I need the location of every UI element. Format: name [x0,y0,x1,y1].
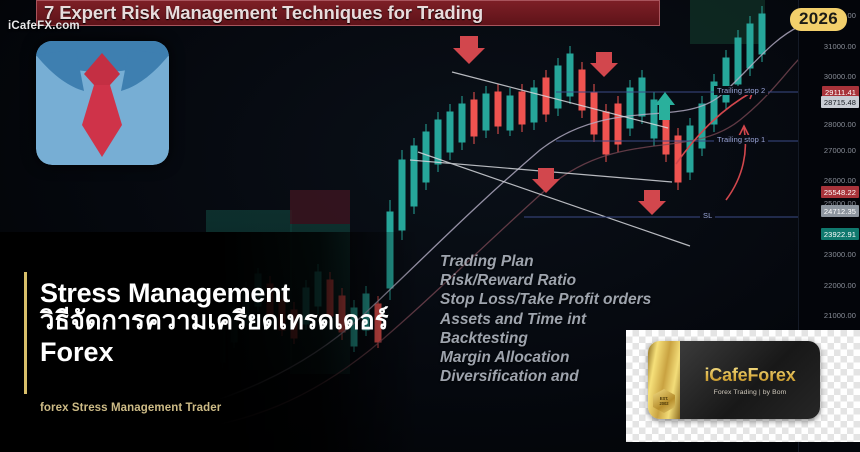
headline-line-en-1: Stress Management [40,278,440,308]
axis-tick: 28000.00 [824,120,856,129]
annotation-trailing-stop-1: Trailing stop 1 [714,135,768,144]
plan-item: Stop Loss/Take Profit orders [440,290,770,309]
price-marker-level-1: 28715.48 [821,96,859,108]
axis-tick: 23000.00 [824,250,856,259]
necktie-icon [36,41,169,165]
axis-tick: 27000.00 [824,146,856,155]
axis-tick: 30000.00 [824,72,856,81]
headline-line-thai: วิธีจัดการความเครียดเทรดเดอร์ [40,306,440,336]
est-badge-icon: EST. 2002 [653,389,675,413]
annotation-stop-loss: SL [700,211,715,220]
logo-brand-name: iCafeForex [704,365,795,386]
annotation-trailing-stop-2: Trailing stop 2 [714,86,768,95]
logo-dark-panel: iCafeForex Forex Trading | by Bom [680,341,820,419]
headline-line-en-2: Forex [40,337,440,367]
logo-tagline: Forex Trading | by Bom [714,389,787,396]
icafeforex-logo[interactable]: EST. 2002 iCafeForex Forex Trading | by … [648,341,820,419]
plan-item: Risk/Reward Ratio [440,271,770,290]
axis-tick: 31000.00 [824,42,856,51]
banner-title: 7 Expert Risk Management Techniques for … [37,2,483,24]
axis-tick: 22000.00 [824,281,856,290]
site-watermark: iCafeFX.com [8,20,80,32]
est-badge-line-2: 2002 [660,401,669,407]
plan-item: Assets and Time int [440,310,770,329]
trendlines [410,72,690,246]
price-marker-resistance-2: 25548.22 [821,186,859,198]
logo-panel: EST. 2002 iCafeForex Forex Trading | by … [626,330,860,442]
bullish-arrow-markers [655,92,675,120]
headline-accent-bar [24,272,27,394]
logo-gold-strip: EST. 2002 [648,341,680,419]
title-banner: 7 Expert Risk Management Techniques for … [36,0,660,26]
axis-tick: 21000.00 [824,311,856,320]
headline-caption: forex Stress Management Trader [40,402,221,414]
price-marker-level-2: 24712.35 [821,205,859,217]
axis-tick: 26000.00 [824,176,856,185]
year-badge: 2026 [790,8,847,31]
plan-item: Trading Plan [440,252,770,271]
price-marker-support-1: 23922.91 [821,228,859,240]
screenshot-stage: Trailing stop 2 Trailing stop 1 SL 32000… [0,0,860,452]
headline-block: Stress Management วิธีจัดการความเครียดเท… [40,278,440,367]
